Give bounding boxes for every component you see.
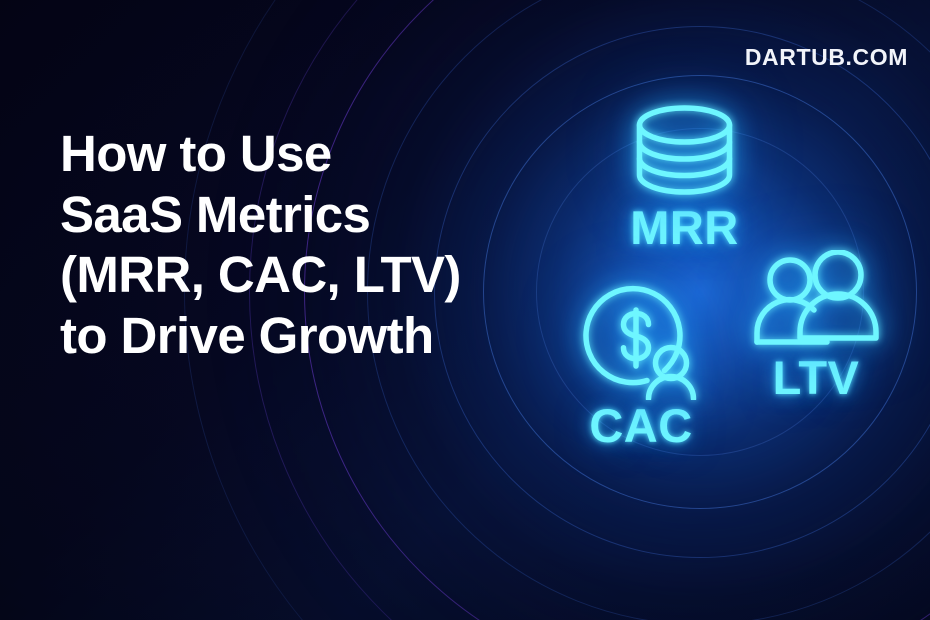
metric-ltv-label: LTV	[773, 354, 860, 401]
metric-cac-label: CAC	[589, 402, 692, 449]
dollar-coin-customer-icon	[576, 282, 706, 400]
site-watermark: DARTUB.COM	[745, 44, 908, 71]
page-title: How to Use SaaS Metrics (MRR, CAC, LTV) …	[60, 124, 520, 367]
two-people-icon	[752, 250, 880, 352]
metric-ltv: LTV	[752, 250, 880, 401]
metric-cac: CAC	[576, 282, 706, 449]
database-stack-icon	[622, 100, 747, 200]
metric-mrr: MRR	[622, 100, 747, 251]
thumbnail-canvas: How to Use SaaS Metrics (MRR, CAC, LTV) …	[0, 0, 930, 620]
metric-mrr-label: MRR	[630, 204, 739, 251]
